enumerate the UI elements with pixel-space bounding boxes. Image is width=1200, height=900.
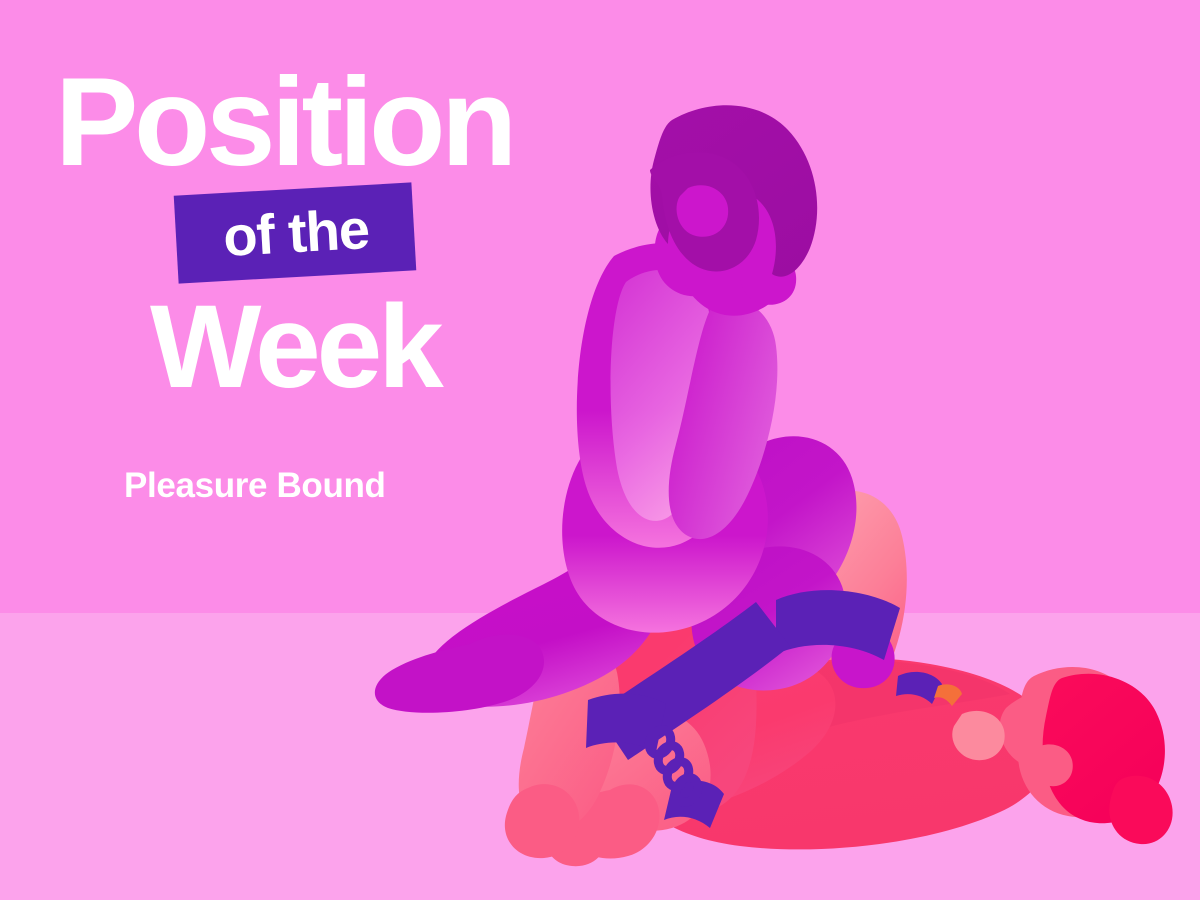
page-title-line-2: Week <box>150 288 440 406</box>
poster-canvas: Position of the Week Pleasure Bound <box>0 0 1200 900</box>
position-name-subtitle: Pleasure Bound <box>124 466 386 506</box>
badge-of-the-label: of the <box>194 190 398 275</box>
pink-hair-bun <box>1109 776 1172 844</box>
purple-ear <box>677 185 729 237</box>
page-title-line-1: Position <box>55 60 513 185</box>
headline-block: Position of the Week Pleasure Bound <box>0 0 600 560</box>
pink-outer-foot <box>505 784 579 858</box>
